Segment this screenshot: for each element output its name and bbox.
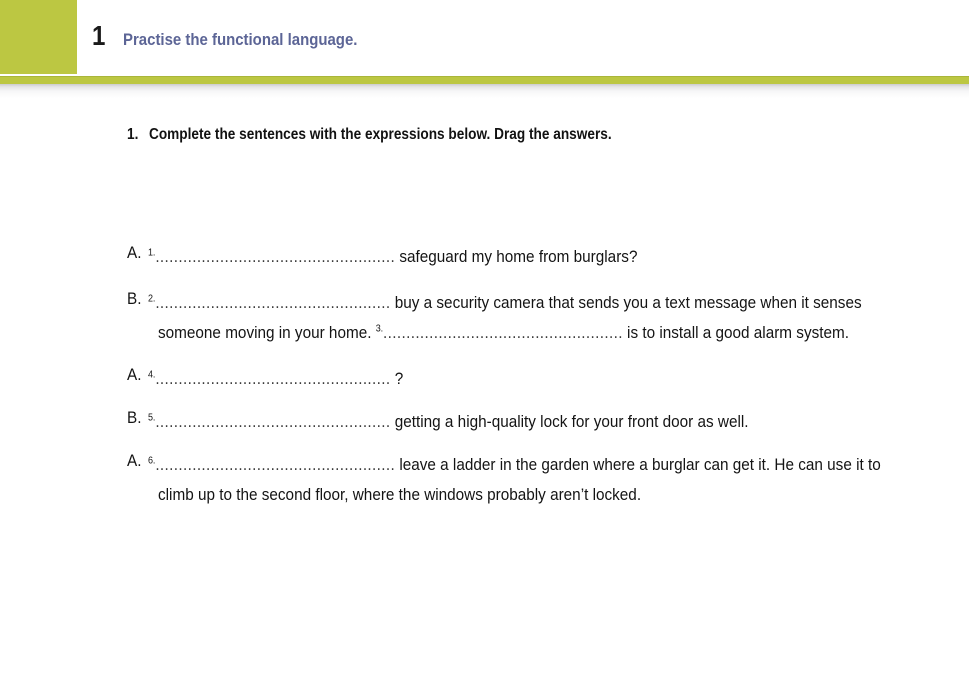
speaker-label: A. [127, 364, 141, 386]
exercise-line: 1.......................................… [148, 242, 637, 272]
page-title: Practise the functional language. [123, 31, 357, 48]
unit-number: 1 [92, 22, 105, 50]
sentence-text: ? [390, 369, 403, 388]
exercise-line: 5.......................................… [148, 407, 749, 437]
exercise-body: 6.......................................… [148, 450, 938, 510]
sentence-text-continued: climb up to the second floor, where the … [158, 485, 641, 504]
instruction-line: 1. Complete the sentences with the expre… [127, 126, 675, 144]
answer-blank[interactable]: ........................................… [155, 369, 390, 388]
header-accent-block [0, 0, 77, 74]
exercise-item: B. 2....................................… [0, 288, 969, 348]
exercise-body: 4.......................................… [148, 364, 938, 394]
speaker-label: B. [127, 288, 141, 310]
exercise-body: 2.......................................… [148, 288, 938, 348]
exercise-wrapped-line: someone moving in your home. 3..........… [158, 318, 938, 348]
answer-blank[interactable]: ........................................… [155, 293, 390, 312]
header-divider [0, 76, 969, 98]
sentence-text: safeguard my home from burglars? [395, 247, 637, 266]
exercise-body: 5.......................................… [148, 407, 938, 437]
speaker-label: A. [127, 450, 141, 472]
exercise-line: 6.......................................… [148, 450, 881, 480]
exercise-line: 4.......................................… [148, 364, 403, 394]
exercise-wrapped-line: climb up to the second floor, where the … [158, 480, 938, 510]
sentence-text: leave a ladder in the garden where a bur… [395, 455, 881, 474]
divider-shadow [0, 84, 969, 98]
answer-blank[interactable]: ........................................… [155, 455, 395, 474]
speaker-label: A. [127, 242, 141, 264]
sentence-text: is to install a good alarm system. [623, 323, 849, 342]
exercise-item: A. 1....................................… [0, 242, 969, 272]
exercise-item: A. 6....................................… [0, 450, 969, 510]
header-title-row: 1 Practise the functional language. [92, 22, 389, 50]
blank-number: 3. [376, 323, 383, 334]
instruction-text: Complete the sentences with the expressi… [149, 126, 612, 144]
sentence-text-continued: someone moving in your home. [158, 323, 376, 342]
exercise-body: 1.......................................… [148, 242, 938, 272]
answer-blank[interactable]: ........................................… [383, 323, 623, 342]
sentence-text: getting a high-quality lock for your fro… [390, 412, 748, 431]
page-header: 1 Practise the functional language. [0, 0, 969, 82]
answer-blank[interactable]: ........................................… [155, 412, 390, 431]
exercise-item: A. 4....................................… [0, 364, 969, 394]
divider-green-bar [0, 76, 969, 84]
exercise-line: 2.......................................… [148, 288, 862, 318]
sentence-text: buy a security camera that sends you a t… [390, 293, 861, 312]
instruction-number: 1. [127, 126, 138, 144]
exercise-list: A. 1....................................… [0, 242, 969, 526]
answer-blank[interactable]: ........................................… [155, 247, 395, 266]
speaker-label: B. [127, 407, 141, 429]
exercise-item: B. 5....................................… [0, 407, 969, 437]
